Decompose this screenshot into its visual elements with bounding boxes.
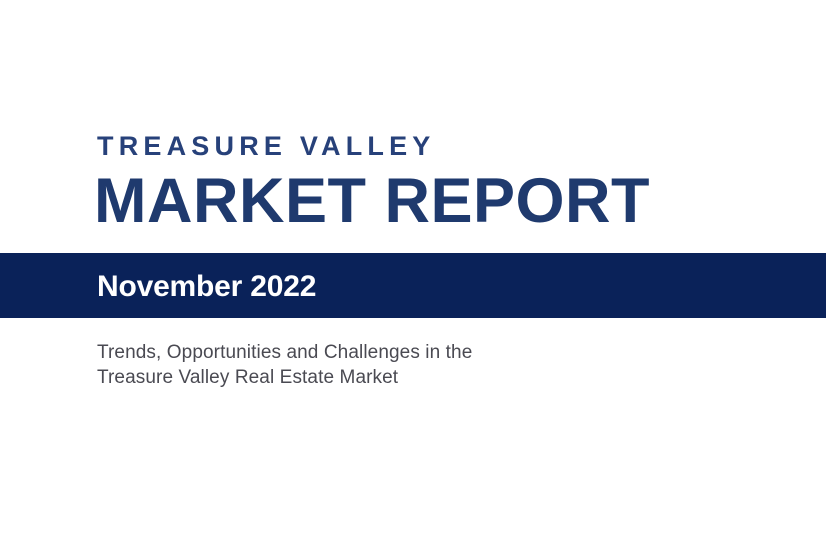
- date-band: November 2022: [0, 253, 826, 318]
- report-title: MARKET REPORT: [94, 170, 650, 233]
- report-cover-page: TREASURE VALLEY MARKET REPORT November 2…: [0, 0, 826, 548]
- report-date: November 2022: [97, 272, 316, 302]
- report-subtitle-line-2: Treasure Valley Real Estate Market: [97, 365, 697, 390]
- report-subtitle-line-1: Trends, Opportunities and Challenges in …: [97, 340, 697, 365]
- report-subtitle: Trends, Opportunities and Challenges in …: [97, 340, 697, 390]
- report-kicker: TREASURE VALLEY: [97, 133, 436, 160]
